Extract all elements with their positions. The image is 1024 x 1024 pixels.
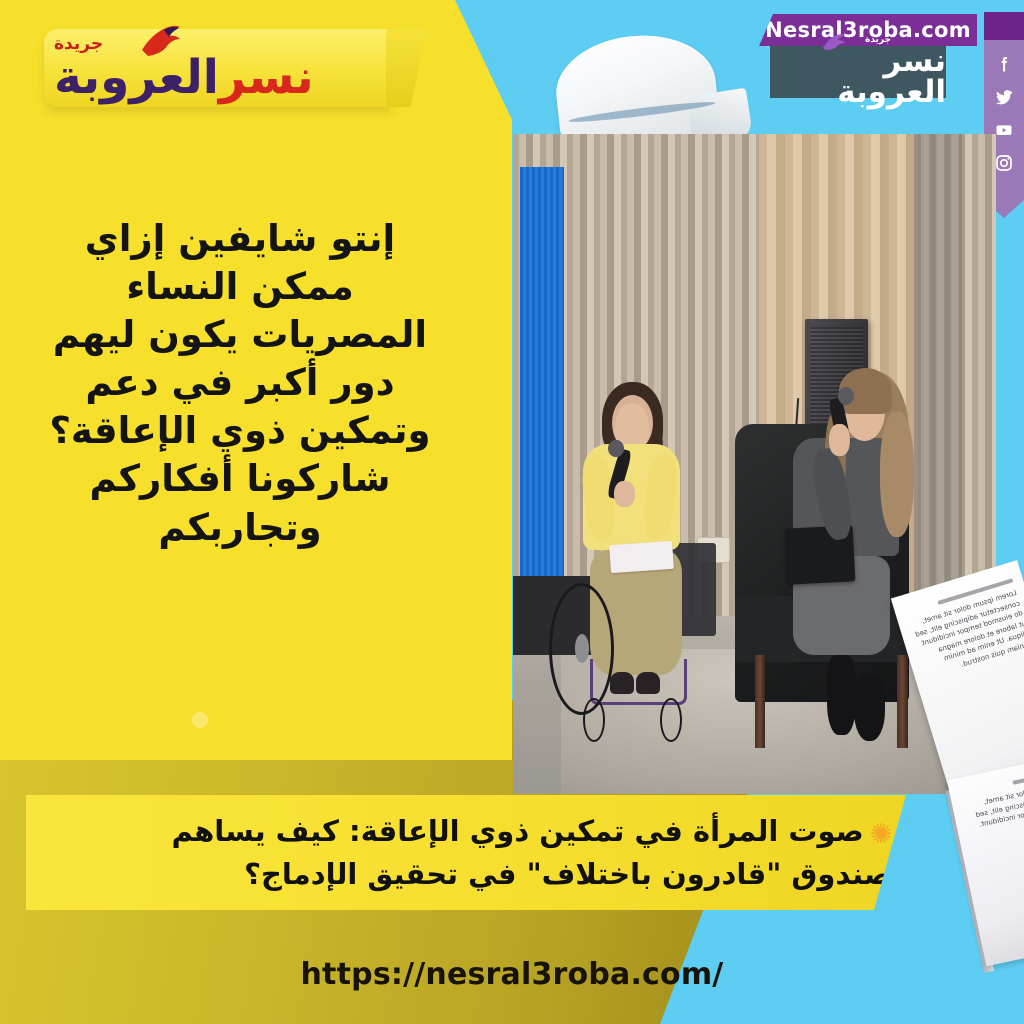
- brand-logo-badge-wordmark: جريدة نسر العروبة: [770, 36, 946, 108]
- newspaper-body-text-2: Lorem ipsum dolor sit amet, consectetur …: [962, 777, 1024, 833]
- brand-name-part1: نسر: [219, 54, 314, 101]
- caption-text: ✺صوت المرأة في تمكين ذوي الإعاقة: كيف يس…: [66, 811, 892, 893]
- caption-body: صوت المرأة في تمكين ذوي الإعاقة: كيف يسا…: [171, 814, 892, 890]
- newspaper-body-text: Lorem ipsum dolor sit amet, consectetur …: [908, 588, 1024, 681]
- armchair-leg-left: [755, 655, 766, 747]
- twitter-icon[interactable]: [994, 87, 1014, 107]
- speaker-woman-hair-curl: [880, 411, 914, 536]
- youtube-icon[interactable]: [994, 120, 1014, 140]
- sparkle-icon: ✺: [870, 816, 892, 853]
- decorative-dot: [192, 712, 208, 728]
- social-card-canvas: جريدة نسر العروبة Nesral3roba.com جريدة …: [0, 0, 1024, 1024]
- site-url-footer[interactable]: https://nesral3roba.com/: [0, 957, 1024, 992]
- caption-band: ✺صوت المرأة في تمكين ذوي الإعاقة: كيف يس…: [26, 795, 906, 910]
- eagle-icon: [140, 24, 182, 58]
- brand-logo-badge-name: نسر العروبة: [770, 46, 946, 108]
- brand-name-part2: العروبة: [54, 54, 219, 101]
- wheelchair-caster-left: [583, 698, 605, 742]
- brand-logo-badge[interactable]: جريدة نسر العروبة: [770, 46, 946, 98]
- brand-logo-ribbon[interactable]: جريدة نسر العروبة: [44, 29, 392, 107]
- facebook-icon[interactable]: [994, 54, 1014, 74]
- speaker-woman-boot-left: [827, 655, 856, 734]
- speaker-woman-boot-right: [854, 675, 885, 741]
- newspaper-rule-2: [1012, 767, 1024, 785]
- papers: [609, 541, 674, 573]
- wheelchair-caster-right: [660, 698, 682, 742]
- eagle-icon-small: [822, 33, 846, 51]
- blue-wall-panel: [520, 167, 563, 589]
- armchair-leg-right: [897, 655, 908, 747]
- brand-name: نسر العروبة: [54, 54, 314, 101]
- speaker-woman-hand: [829, 424, 849, 456]
- wheelchair-woman-hand: [614, 481, 634, 507]
- microphone-left-head: [608, 440, 623, 457]
- curtain-dark: [914, 134, 962, 622]
- brand-wordmark: جريدة نسر العروبة: [54, 36, 314, 101]
- instagram-icon[interactable]: [994, 153, 1014, 173]
- headline-question: إنتو شايفين إزاي ممكن النساء المصريات يك…: [40, 215, 440, 552]
- social-strip-cap: [984, 12, 1024, 42]
